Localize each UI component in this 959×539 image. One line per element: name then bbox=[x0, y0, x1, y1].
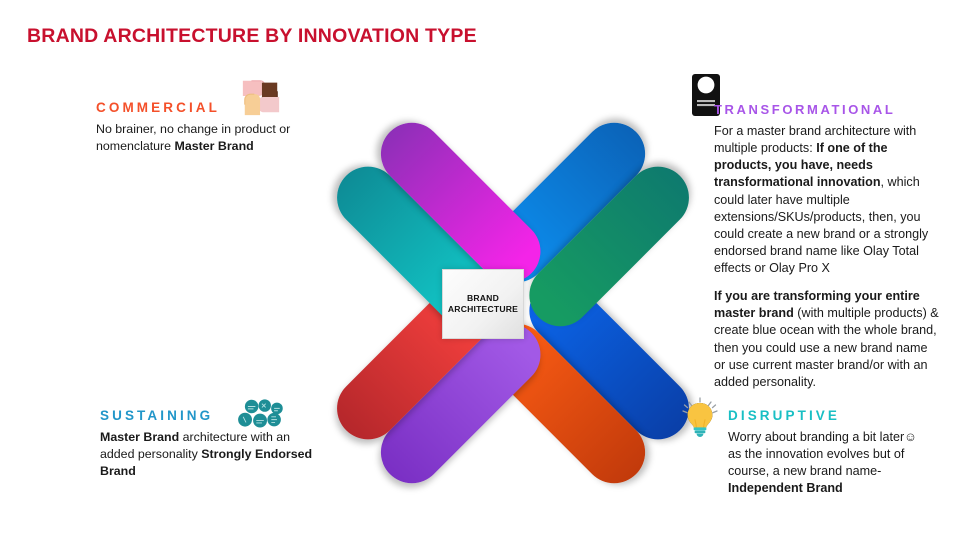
diagram-center-box: BRAND ARCHITECTURE bbox=[442, 269, 524, 339]
brand-architecture-x-diagram: BRAND ARCHITECTURE bbox=[297, 105, 667, 500]
quadrant-transformational-heading: TRANSFORMATIONAL bbox=[714, 102, 942, 117]
quadrant-sustaining-paragraph: Master Brand architecture with an added … bbox=[100, 429, 315, 480]
quadrant-transformational-paragraph-2: If you are transforming your entire mast… bbox=[714, 288, 942, 391]
quadrant-disruptive: DISRUPTIVE Worry about branding a bit la… bbox=[728, 408, 933, 498]
center-label-line1: BRAND bbox=[467, 293, 499, 303]
slide-canvas: BRAND ARCHITECTURE BY INNOVATION TYPE BR… bbox=[0, 0, 959, 539]
diagram-center-label: BRAND ARCHITECTURE bbox=[448, 293, 518, 314]
quadrant-sustaining-heading: SUSTAINING bbox=[100, 408, 315, 423]
center-label-line2: ARCHITECTURE bbox=[448, 304, 518, 314]
quadrant-commercial-heading: COMMERCIAL bbox=[96, 100, 301, 115]
quadrant-disruptive-text: Worry about branding a bit later☺ as the… bbox=[728, 429, 933, 498]
quadrant-disruptive-heading: DISRUPTIVE bbox=[728, 408, 933, 423]
quadrant-disruptive-paragraph: Worry about branding a bit later☺ as the… bbox=[728, 429, 933, 498]
quadrant-sustaining: SUSTAINING Master Brand architecture wit… bbox=[100, 408, 315, 480]
lightbulb-idea-icon bbox=[678, 396, 722, 438]
quadrant-commercial: COMMERCIAL No brainer, no change in prod… bbox=[96, 100, 301, 155]
page-title: BRAND ARCHITECTURE BY INNOVATION TYPE bbox=[27, 25, 477, 48]
quadrant-transformational-paragraph-1: For a master brand architecture with mul… bbox=[714, 123, 942, 277]
quadrant-transformational-text: For a master brand architecture with mul… bbox=[714, 123, 942, 391]
quadrant-transformational: TRANSFORMATIONAL For a master brand arch… bbox=[714, 102, 942, 391]
quadrant-sustaining-text: Master Brand architecture with an added … bbox=[100, 429, 315, 480]
quadrant-commercial-paragraph: No brainer, no change in product or nome… bbox=[96, 121, 301, 155]
quadrant-commercial-text: No brainer, no change in product or nome… bbox=[96, 121, 301, 155]
